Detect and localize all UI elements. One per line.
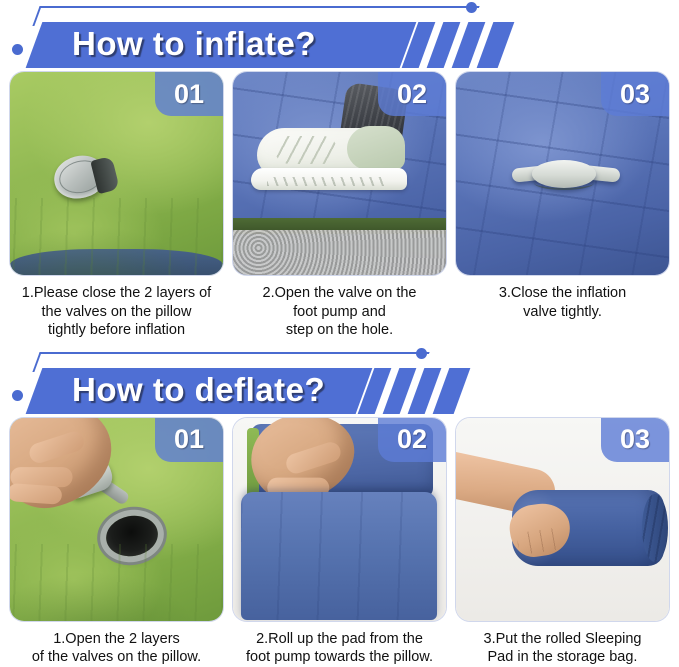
deflate-step-3: 03 3.Put the rolled Sleeping Pad in the … — [456, 418, 669, 667]
finger-detail — [10, 483, 62, 505]
shoe-sole-detail — [251, 168, 407, 190]
deflate-step-3-caption: 3.Put the rolled Sleeping Pad in the sto… — [456, 630, 669, 667]
product-instruction-infographic: How to inflate? 01 1.Please close the 2 … — [0, 0, 679, 659]
inflate-step-1-photo: 01 — [10, 72, 223, 275]
shoe-laces-detail — [275, 136, 337, 164]
inflate-step-2-photo: 02 — [233, 72, 446, 275]
deflate-step-2: 02 2.Roll up the pad from the foot pump … — [233, 418, 446, 667]
step-badge: 03 — [601, 72, 669, 116]
finger-detail — [27, 429, 86, 465]
pad-rolled-section — [241, 492, 437, 620]
step-badge: 01 — [155, 72, 223, 116]
inflate-banner: How to inflate? — [0, 0, 679, 72]
banner-stripes-decoration — [360, 368, 470, 414]
pad-base-edge — [10, 249, 223, 275]
shoe-heel-detail — [347, 126, 405, 170]
hand-icon — [10, 418, 122, 517]
banner-dot-left-icon — [12, 44, 23, 55]
inflate-step-1: 01 1.Please close the 2 layers of the va… — [10, 72, 223, 340]
closed-valve-icon — [512, 158, 620, 192]
inflate-banner-title: How to inflate? — [72, 21, 316, 67]
gravel-ground-texture — [233, 230, 446, 275]
deflate-step-1-photo: 01 — [10, 418, 223, 621]
deflate-step-2-photo: 02 — [233, 418, 446, 621]
valve-ring — [534, 176, 594, 190]
step-badge: 02 — [378, 418, 446, 462]
deflate-step-2-caption: 2.Roll up the pad from the foot pump tow… — [233, 630, 446, 667]
inflate-step-3-caption: 3.Close the inflation valve tightly. — [456, 284, 669, 321]
deflate-step-3-photo: 03 — [456, 418, 669, 621]
inflate-step-3-photo: 03 — [456, 72, 669, 275]
deflate-banner: How to deflate? — [0, 346, 679, 418]
inflate-step-2: 02 2.Open the valve on the foot pump and… — [233, 72, 446, 340]
step-badge: 03 — [601, 418, 669, 462]
open-valve-hole-icon — [103, 511, 161, 559]
banner-dot-right-icon — [466, 2, 477, 13]
banner-stripes-decoration — [404, 22, 514, 68]
deflate-steps-row: 01 1.Open the 2 layers of the valves on … — [0, 418, 679, 667]
finger-detail — [284, 439, 343, 475]
step-badge: 01 — [155, 418, 223, 462]
inflate-step-2-caption: 2.Open the valve on the foot pump and st… — [233, 284, 446, 340]
banner-dot-left-icon — [12, 390, 23, 401]
inflate-step-3: 03 3.Close the inflation valve tightly. — [456, 72, 669, 340]
step-badge: 02 — [378, 72, 446, 116]
inflate-step-1-caption: 1.Please close the 2 layers of the valve… — [10, 284, 223, 340]
inflate-steps-row: 01 1.Please close the 2 layers of the va… — [0, 72, 679, 340]
banner-dot-right-icon — [416, 348, 427, 359]
deflate-banner-title: How to deflate? — [72, 367, 325, 413]
deflate-step-1: 01 1.Open the 2 layers of the valves on … — [10, 418, 223, 667]
sneaker-icon — [251, 124, 409, 194]
deflate-step-1-caption: 1.Open the 2 layers of the valves on the… — [10, 630, 223, 667]
